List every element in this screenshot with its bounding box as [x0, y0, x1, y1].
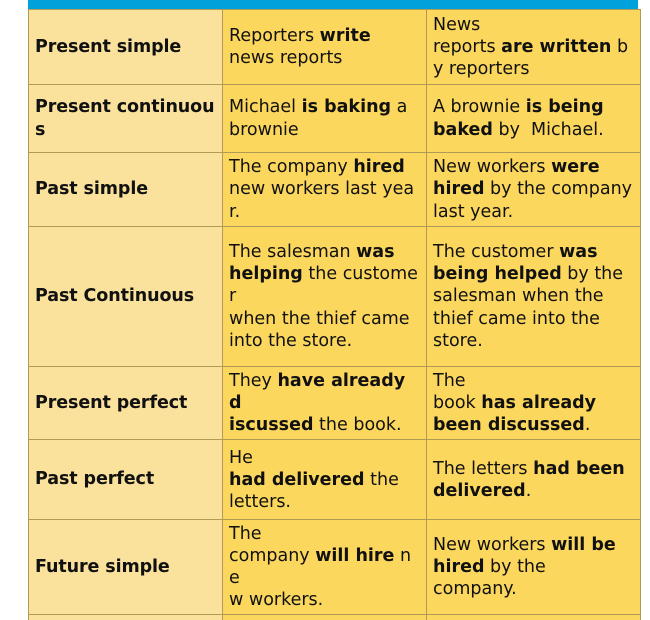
active-voice-cell: They have already d iscussed the book.: [223, 367, 427, 440]
sentence-text: The book: [433, 371, 481, 413]
sentence-text: He: [229, 448, 253, 468]
sentence-text: They: [229, 371, 277, 391]
passive-voice-cell: The book has already been discussed.: [427, 367, 641, 440]
sentence-text: .: [526, 481, 532, 501]
sentence-text: new workers last year.: [229, 179, 414, 221]
sentence-text: The salesman: [229, 242, 356, 262]
table-row: Present perfectThey have already d iscus…: [29, 367, 641, 440]
table-row: Past perfectHe had delivered the letters…: [29, 440, 641, 520]
sentence-text: by Michael.: [493, 120, 604, 140]
tense-label-cell: Past Continuous: [29, 227, 223, 367]
verb-phrase-bold: will hire: [315, 546, 394, 566]
table-row: Present continuousMichael is baking a br…: [29, 85, 641, 153]
passive-voice-cell: The: [427, 615, 641, 620]
verb-phrase-bold: write: [320, 26, 371, 46]
verb-phrase-bold: had delivered: [229, 470, 365, 490]
passive-voice-cell: New workers will be hired by the company…: [427, 520, 641, 615]
tense-label-cell: Present perfect: [29, 367, 223, 440]
page-root: Present simpleReporters write news repor…: [0, 0, 650, 620]
tense-label-cell: Present simple: [29, 10, 223, 85]
table-row: Present simpleReporters write news repor…: [29, 10, 641, 85]
passive-voice-cell: New workers were hired by the company la…: [427, 153, 641, 227]
sentence-text: New workers: [433, 535, 551, 555]
table-body: Present simpleReporters write news repor…: [29, 10, 641, 620]
sentence-text: The letters: [433, 459, 533, 479]
tense-label-cell: [29, 615, 223, 620]
sentence-text: Michael: [229, 97, 302, 117]
tense-label-cell: Future simple: [29, 520, 223, 615]
table-row: Past simpleThe company hired new workers…: [29, 153, 641, 227]
accent-bar: [28, 0, 638, 9]
sentence-text: .: [585, 415, 591, 435]
tense-voice-table: Present simpleReporters write news repor…: [28, 9, 641, 620]
active-voice-cell: Michael is baking a brownie: [223, 85, 427, 153]
active-voice-cell: Reporters write news reports: [223, 10, 427, 85]
sentence-text: The company: [229, 157, 353, 177]
passive-voice-cell: A brownie is being baked by Michael.: [427, 85, 641, 153]
active-voice-cell: He had delivered the letters.: [223, 440, 427, 520]
sentence-text: the book.: [313, 415, 401, 435]
passive-voice-cell: The letters had been delivered.: [427, 440, 641, 520]
tense-label-cell: Past perfect: [29, 440, 223, 520]
table-row: Past ContinuousThe salesman was helping …: [29, 227, 641, 367]
sentence-text: Reporters: [229, 26, 320, 46]
sentence-text: The company: [229, 524, 315, 566]
active-voice-cell: The company hired new workers last year.: [223, 153, 427, 227]
table-row: She has to deliver thThe: [29, 615, 641, 620]
sentence-text: News reports: [433, 15, 501, 57]
verb-phrase-bold: are written: [501, 37, 611, 57]
sentence-text: A brownie: [433, 97, 526, 117]
tense-label-cell: Past simple: [29, 153, 223, 227]
sentence-text: news reports: [229, 48, 342, 68]
active-voice-cell: The salesman was helping the customer wh…: [223, 227, 427, 367]
passive-voice-cell: News reports are written b y reporters: [427, 10, 641, 85]
sentence-text: New workers: [433, 157, 551, 177]
sentence-text: The customer: [433, 242, 559, 262]
verb-phrase-bold: is baking: [302, 97, 391, 117]
active-voice-cell: The company will hire ne w workers.: [223, 520, 427, 615]
table-row: Future simpleThe company will hire ne w …: [29, 520, 641, 615]
passive-voice-cell: The customer was being helped by the sal…: [427, 227, 641, 367]
tense-label-cell: Present continuous: [29, 85, 223, 153]
verb-phrase-bold: hired: [353, 157, 404, 177]
active-voice-cell: She has to deliver th: [223, 615, 427, 620]
